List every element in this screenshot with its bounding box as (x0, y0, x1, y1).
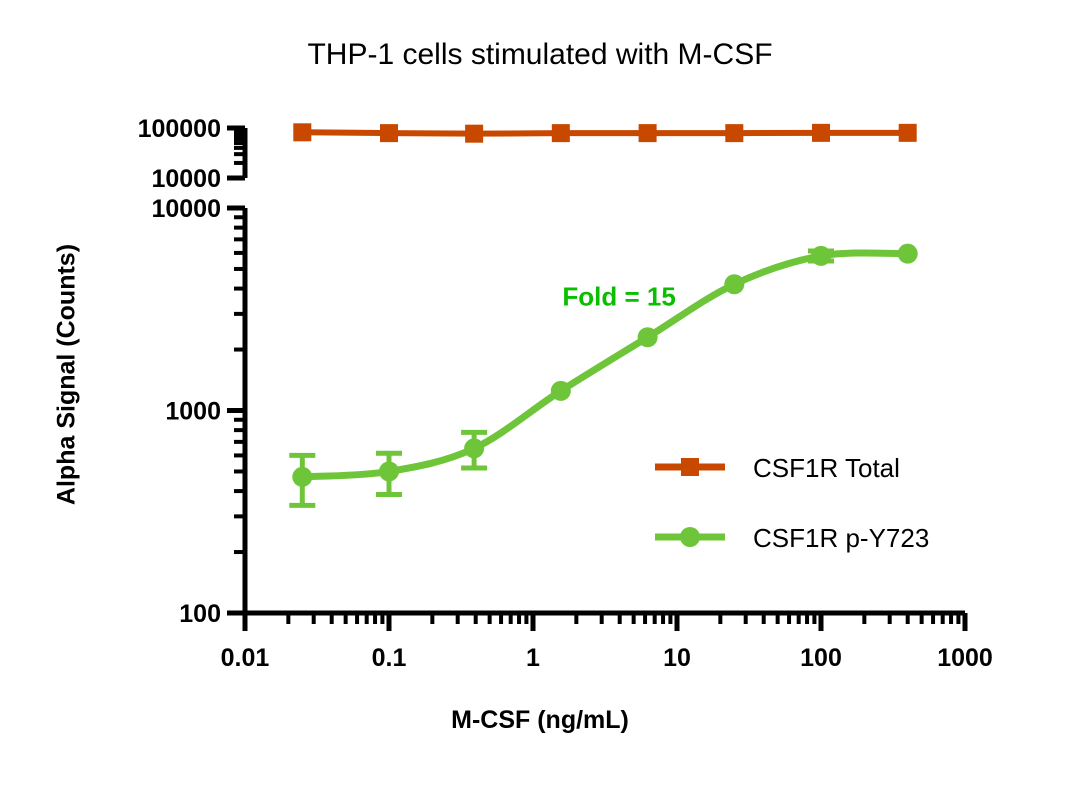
data-point-marker (898, 244, 918, 264)
annotation-layer: Fold = 15 (562, 282, 675, 312)
data-point-marker (292, 467, 312, 487)
data-point-marker (812, 124, 830, 142)
plot-area: 100100010000100001000000.010.11101001000… (0, 0, 1080, 787)
data-point-marker (293, 123, 311, 141)
y-tick-label: 100 (179, 600, 221, 628)
fold-annotation: Fold = 15 (562, 282, 675, 312)
series-layer (289, 123, 917, 505)
legend-label: CSF1R p-Y723 (753, 523, 929, 553)
x-tick-label: 0.01 (221, 644, 270, 672)
y-tick-label: 1000 (165, 398, 221, 426)
legend-layer: CSF1R TotalCSF1R p-Y723 (655, 453, 929, 553)
x-tick-label: 0.1 (372, 644, 407, 672)
x-tick-label: 1 (526, 644, 540, 672)
legend-marker-square (681, 458, 699, 476)
x-tick-label: 10 (663, 644, 691, 672)
data-point-marker (899, 124, 917, 142)
series-csf1r-total (293, 123, 916, 142)
x-tick-label: 1000 (937, 644, 993, 672)
data-point-marker (379, 461, 399, 481)
legend-label: CSF1R Total (753, 453, 900, 483)
data-point-marker (551, 381, 571, 401)
y-tick-label: 10000 (151, 195, 221, 223)
data-point-marker (725, 124, 743, 142)
y-tick-label-upper: 100000 (138, 115, 221, 143)
chart-canvas: THP-1 cells stimulated with M-CSF Alpha … (0, 0, 1080, 787)
x-tick-label: 100 (800, 644, 842, 672)
legend-entry[interactable]: CSF1R p-Y723 (655, 523, 929, 553)
data-point-marker (638, 327, 658, 347)
y-tick-label-upper: 10000 (151, 165, 221, 193)
data-point-marker (552, 124, 570, 142)
data-point-marker (724, 274, 744, 294)
data-point-marker (811, 246, 831, 266)
data-point-marker (639, 124, 657, 142)
legend-entry[interactable]: CSF1R Total (655, 453, 900, 483)
legend-marker-circle (680, 527, 700, 547)
data-point-marker (380, 124, 398, 142)
data-point-marker (465, 125, 483, 143)
data-point-marker (464, 438, 484, 458)
